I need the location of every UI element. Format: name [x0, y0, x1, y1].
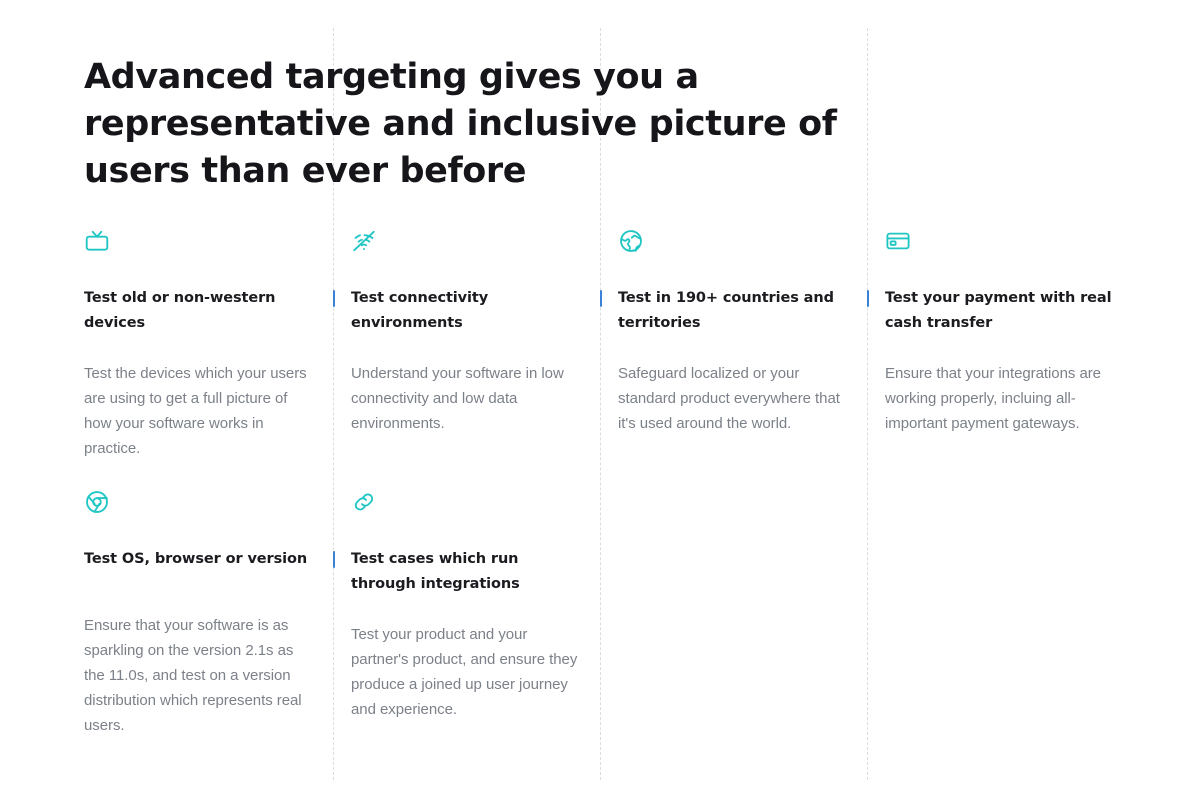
feature-title: Test OS, browser or version	[84, 547, 316, 572]
link-chain-icon	[351, 489, 600, 529]
feature-body: Ensure that your integrations are workin…	[885, 361, 1115, 436]
globe-icon	[618, 228, 867, 268]
feature-title: Test in 190+ countries and territories	[618, 286, 850, 335]
feature-body: Ensure that your software is as sparklin…	[84, 613, 314, 738]
feature-card-os-browser: Test OS, browser or version Ensure that …	[66, 489, 333, 738]
feature-grid: Test old or non-western devices Test the…	[0, 228, 1200, 738]
feature-title-row: Test in 190+ countries and territories	[618, 286, 867, 335]
feature-title-row: Test your payment with real cash transfe…	[885, 286, 1134, 335]
accent-bar	[867, 290, 869, 307]
feature-body: Test the devices which your users are us…	[84, 361, 314, 461]
feature-card-devices: Test old or non-western devices Test the…	[66, 228, 333, 461]
credit-card-icon	[885, 228, 1134, 268]
feature-body: Safeguard localized or your standard pro…	[618, 361, 848, 436]
feature-body: Test your product and your partner's pro…	[351, 622, 581, 722]
television-icon	[84, 228, 333, 268]
accent-bar	[333, 551, 335, 568]
feature-title-row: Test connectivity environments	[351, 286, 600, 335]
wifi-off-icon	[351, 228, 600, 268]
feature-card-payment: Test your payment with real cash transfe…	[867, 228, 1134, 461]
feature-card-connectivity: Test connectivity environments Understan…	[333, 228, 600, 461]
browser-chrome-icon	[84, 489, 333, 529]
page-title: Advanced targeting gives you a represent…	[84, 54, 874, 195]
feature-row: Test old or non-western devices Test the…	[0, 228, 1200, 461]
feature-card-countries: Test in 190+ countries and territories S…	[600, 228, 867, 461]
feature-card-integrations: Test cases which run through integration…	[333, 489, 600, 738]
feature-row: Test OS, browser or version Ensure that …	[0, 489, 1200, 738]
feature-title: Test old or non-western devices	[84, 286, 316, 335]
feature-title: Test your payment with real cash transfe…	[885, 286, 1117, 335]
accent-bar	[600, 290, 602, 307]
feature-title: Test connectivity environments	[351, 286, 583, 335]
feature-title-row: Test old or non-western devices	[84, 286, 333, 335]
feature-body: Understand your software in low connecti…	[351, 361, 581, 436]
feature-grid-page: Advanced targeting gives you a represent…	[0, 0, 1200, 810]
feature-title-row: Test cases which run through integration…	[351, 547, 600, 596]
feature-title: Test cases which run through integration…	[351, 547, 583, 596]
accent-bar	[333, 290, 335, 307]
feature-title-row: Test OS, browser or version	[84, 547, 333, 587]
